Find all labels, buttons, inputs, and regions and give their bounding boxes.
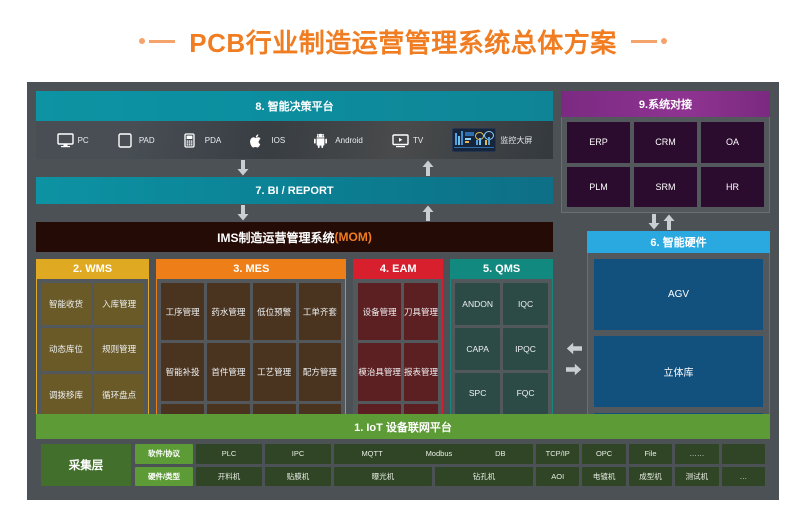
arrow-down-icon bbox=[236, 160, 250, 176]
hardware-cell[interactable]: 立体库 bbox=[594, 336, 763, 407]
arrow-up-icon bbox=[421, 205, 435, 221]
module-cell[interactable]: 智能补投 bbox=[161, 343, 204, 400]
module-cell[interactable]: 调拨移库 bbox=[41, 374, 91, 416]
iot-table: 软件/协议 PLC IPC MQTT Modbus DB TCP/IP OPC … bbox=[135, 444, 765, 486]
device-pad[interactable]: PAD bbox=[118, 133, 155, 148]
iot-cell[interactable]: File bbox=[629, 444, 672, 464]
page-title-row: PCB行业制造运营管理系统总体方案 bbox=[0, 0, 806, 82]
decision-platform-header: 8. 智能决策平台 bbox=[36, 91, 553, 121]
arrow-row-integration bbox=[561, 213, 770, 231]
dashboard-screen-icon bbox=[452, 128, 496, 152]
iot-protocol-row: 软件/协议 PLC IPC MQTT Modbus DB TCP/IP OPC … bbox=[135, 444, 765, 464]
integration-cell[interactable]: ERP bbox=[567, 122, 630, 163]
iot-cell[interactable]: AOI bbox=[536, 467, 579, 487]
device-label: IOS bbox=[271, 136, 285, 145]
arrow-up-icon bbox=[421, 160, 435, 176]
module-cell[interactable]: IPQC bbox=[503, 328, 548, 370]
iot-cell[interactable]: 曝光机 bbox=[334, 467, 432, 487]
module-cell[interactable]: 报表管理 bbox=[404, 343, 438, 400]
module-wms-header: 2. WMS bbox=[36, 259, 149, 279]
module-mes-header: 3. MES bbox=[156, 259, 346, 279]
smart-hardware-header: 6. 智能硬件 bbox=[587, 231, 770, 253]
arrow-down-icon bbox=[236, 205, 250, 221]
module-cell[interactable]: SPC bbox=[455, 373, 500, 415]
iot-cell[interactable]: IPC bbox=[265, 444, 331, 464]
device-android[interactable]: Android bbox=[314, 133, 363, 148]
integration-cell[interactable]: OA bbox=[701, 122, 764, 163]
module-eam-header: 4. EAM bbox=[353, 259, 443, 279]
integration-cell[interactable]: PLM bbox=[567, 167, 630, 208]
module-cell[interactable]: 工艺管理 bbox=[253, 343, 296, 400]
iot-row-key: 软件/协议 bbox=[135, 444, 193, 464]
mom-header: IMS制造运营管理系统 (MOM) bbox=[36, 222, 553, 252]
iot-header: 1. IoT 设备联网平台 bbox=[36, 414, 770, 439]
iot-cell[interactable]: PLC bbox=[196, 444, 262, 464]
arrow-up-icon bbox=[662, 214, 676, 230]
iot-cell[interactable]: TCP/IP bbox=[536, 444, 579, 464]
apple-icon bbox=[250, 133, 267, 148]
device-label: PAD bbox=[139, 136, 155, 145]
iot-cell: MQTT bbox=[361, 449, 382, 458]
iot-cell-empty[interactable] bbox=[722, 444, 765, 464]
integration-cell[interactable]: HR bbox=[701, 167, 764, 208]
arrow-row-decision-bi bbox=[36, 159, 553, 177]
module-cell[interactable]: CAPA bbox=[455, 328, 500, 370]
device-label: PC bbox=[78, 136, 89, 145]
device-pda[interactable]: PDA bbox=[184, 133, 221, 148]
panel-bi-report: 7. BI / REPORT bbox=[36, 177, 553, 204]
iot-cell[interactable]: …… bbox=[675, 444, 718, 464]
device-dashboard[interactable]: 监控大屏 bbox=[452, 128, 532, 152]
module-cell[interactable]: 智能收货 bbox=[41, 283, 91, 325]
module-cell[interactable]: FQC bbox=[503, 373, 548, 415]
diagram-frame: 8. 智能决策平台 PC PAD bbox=[27, 82, 779, 500]
iot-row-key: 硬件/类型 bbox=[135, 467, 193, 487]
iot-cell[interactable]: 电镀机 bbox=[582, 467, 625, 487]
iot-cell[interactable]: OPC bbox=[582, 444, 625, 464]
module-cell[interactable]: 设备管理 bbox=[358, 283, 401, 340]
system-integration-header: 9.系统对接 bbox=[561, 91, 770, 117]
iot-collection-layer: 采集层 bbox=[41, 444, 131, 486]
iot-hardware-row: 硬件/类型 开料机 贴膜机 曝光机 钻孔机 AOI 电镀机 成型机 测试机 … bbox=[135, 467, 765, 487]
hardware-cell[interactable]: AGV bbox=[594, 259, 763, 330]
arrow-down-icon bbox=[647, 214, 661, 230]
module-qms-header: 5. QMS bbox=[450, 259, 553, 279]
module-cell[interactable]: 配方管理 bbox=[299, 343, 342, 400]
title-decor-right bbox=[631, 38, 667, 44]
module-cell[interactable]: 模治具管理 bbox=[358, 343, 401, 400]
iot-cell[interactable]: 贴膜机 bbox=[265, 467, 331, 487]
module-cell[interactable]: 循环盘点 bbox=[94, 374, 144, 416]
device-label: TV bbox=[413, 136, 423, 145]
module-cell[interactable]: IQC bbox=[503, 283, 548, 325]
tablet-icon bbox=[118, 133, 135, 148]
module-cell[interactable]: 药水管理 bbox=[207, 283, 250, 340]
panel-system-integration: 9.系统对接 ERP CRM OA PLM SRM HR bbox=[561, 91, 770, 213]
iot-cell[interactable]: 钻孔机 bbox=[435, 467, 533, 487]
arrow-row-bi-mom bbox=[36, 204, 553, 222]
module-cell[interactable]: ANDON bbox=[455, 283, 500, 325]
iot-cell: DB bbox=[495, 449, 505, 458]
iot-cell: Modbus bbox=[426, 449, 453, 458]
module-cell[interactable]: 入库管理 bbox=[94, 283, 144, 325]
arrow-left-icon bbox=[566, 342, 582, 360]
android-icon bbox=[314, 133, 331, 148]
iot-cell-group[interactable]: MQTT Modbus DB bbox=[334, 444, 533, 464]
panel-decision-platform: 8. 智能决策平台 PC PAD bbox=[36, 91, 553, 159]
integration-cell[interactable]: CRM bbox=[634, 122, 697, 163]
module-cell[interactable]: 首件管理 bbox=[207, 343, 250, 400]
panel-iot: 1. IoT 设备联网平台 采集层 软件/协议 PLC IPC MQTT Mod… bbox=[36, 414, 770, 491]
handheld-icon bbox=[184, 133, 201, 148]
module-cell[interactable]: 低位预警 bbox=[253, 283, 296, 340]
device-pc[interactable]: PC bbox=[57, 133, 89, 148]
system-integration-cells: ERP CRM OA PLM SRM HR bbox=[561, 117, 770, 213]
arrow-right-icon bbox=[566, 363, 582, 381]
iot-cell[interactable]: 成型机 bbox=[629, 467, 672, 487]
iot-cell[interactable]: 开料机 bbox=[196, 467, 262, 487]
module-cell[interactable]: 规则管理 bbox=[94, 328, 144, 370]
monitor-icon bbox=[57, 133, 74, 148]
module-cell[interactable]: 刀具管理 bbox=[404, 283, 438, 340]
tv-icon bbox=[392, 133, 409, 148]
device-ios[interactable]: IOS bbox=[250, 133, 285, 148]
module-cell[interactable]: 工序管理 bbox=[161, 283, 204, 340]
iot-cell[interactable]: … bbox=[722, 467, 765, 487]
integration-cell[interactable]: SRM bbox=[634, 167, 697, 208]
device-label: Android bbox=[335, 136, 363, 145]
module-cell[interactable]: 动态库位 bbox=[41, 328, 91, 370]
device-list: PC PAD PDA bbox=[36, 121, 553, 159]
device-tv[interactable]: TV bbox=[392, 133, 423, 148]
device-label: PDA bbox=[205, 136, 221, 145]
title-decor-left bbox=[139, 38, 175, 44]
mom-subtitle: (MOM) bbox=[335, 230, 372, 244]
iot-body: 采集层 软件/协议 PLC IPC MQTT Modbus DB TCP/IP … bbox=[36, 439, 770, 491]
page-title: PCB行业制造运营管理系统总体方案 bbox=[189, 23, 616, 60]
device-label: 监控大屏 bbox=[500, 135, 532, 146]
mom-title: IMS制造运营管理系统 bbox=[217, 229, 334, 246]
iot-cell[interactable]: 测试机 bbox=[675, 467, 718, 487]
module-cell[interactable]: 工单齐套 bbox=[299, 283, 342, 340]
